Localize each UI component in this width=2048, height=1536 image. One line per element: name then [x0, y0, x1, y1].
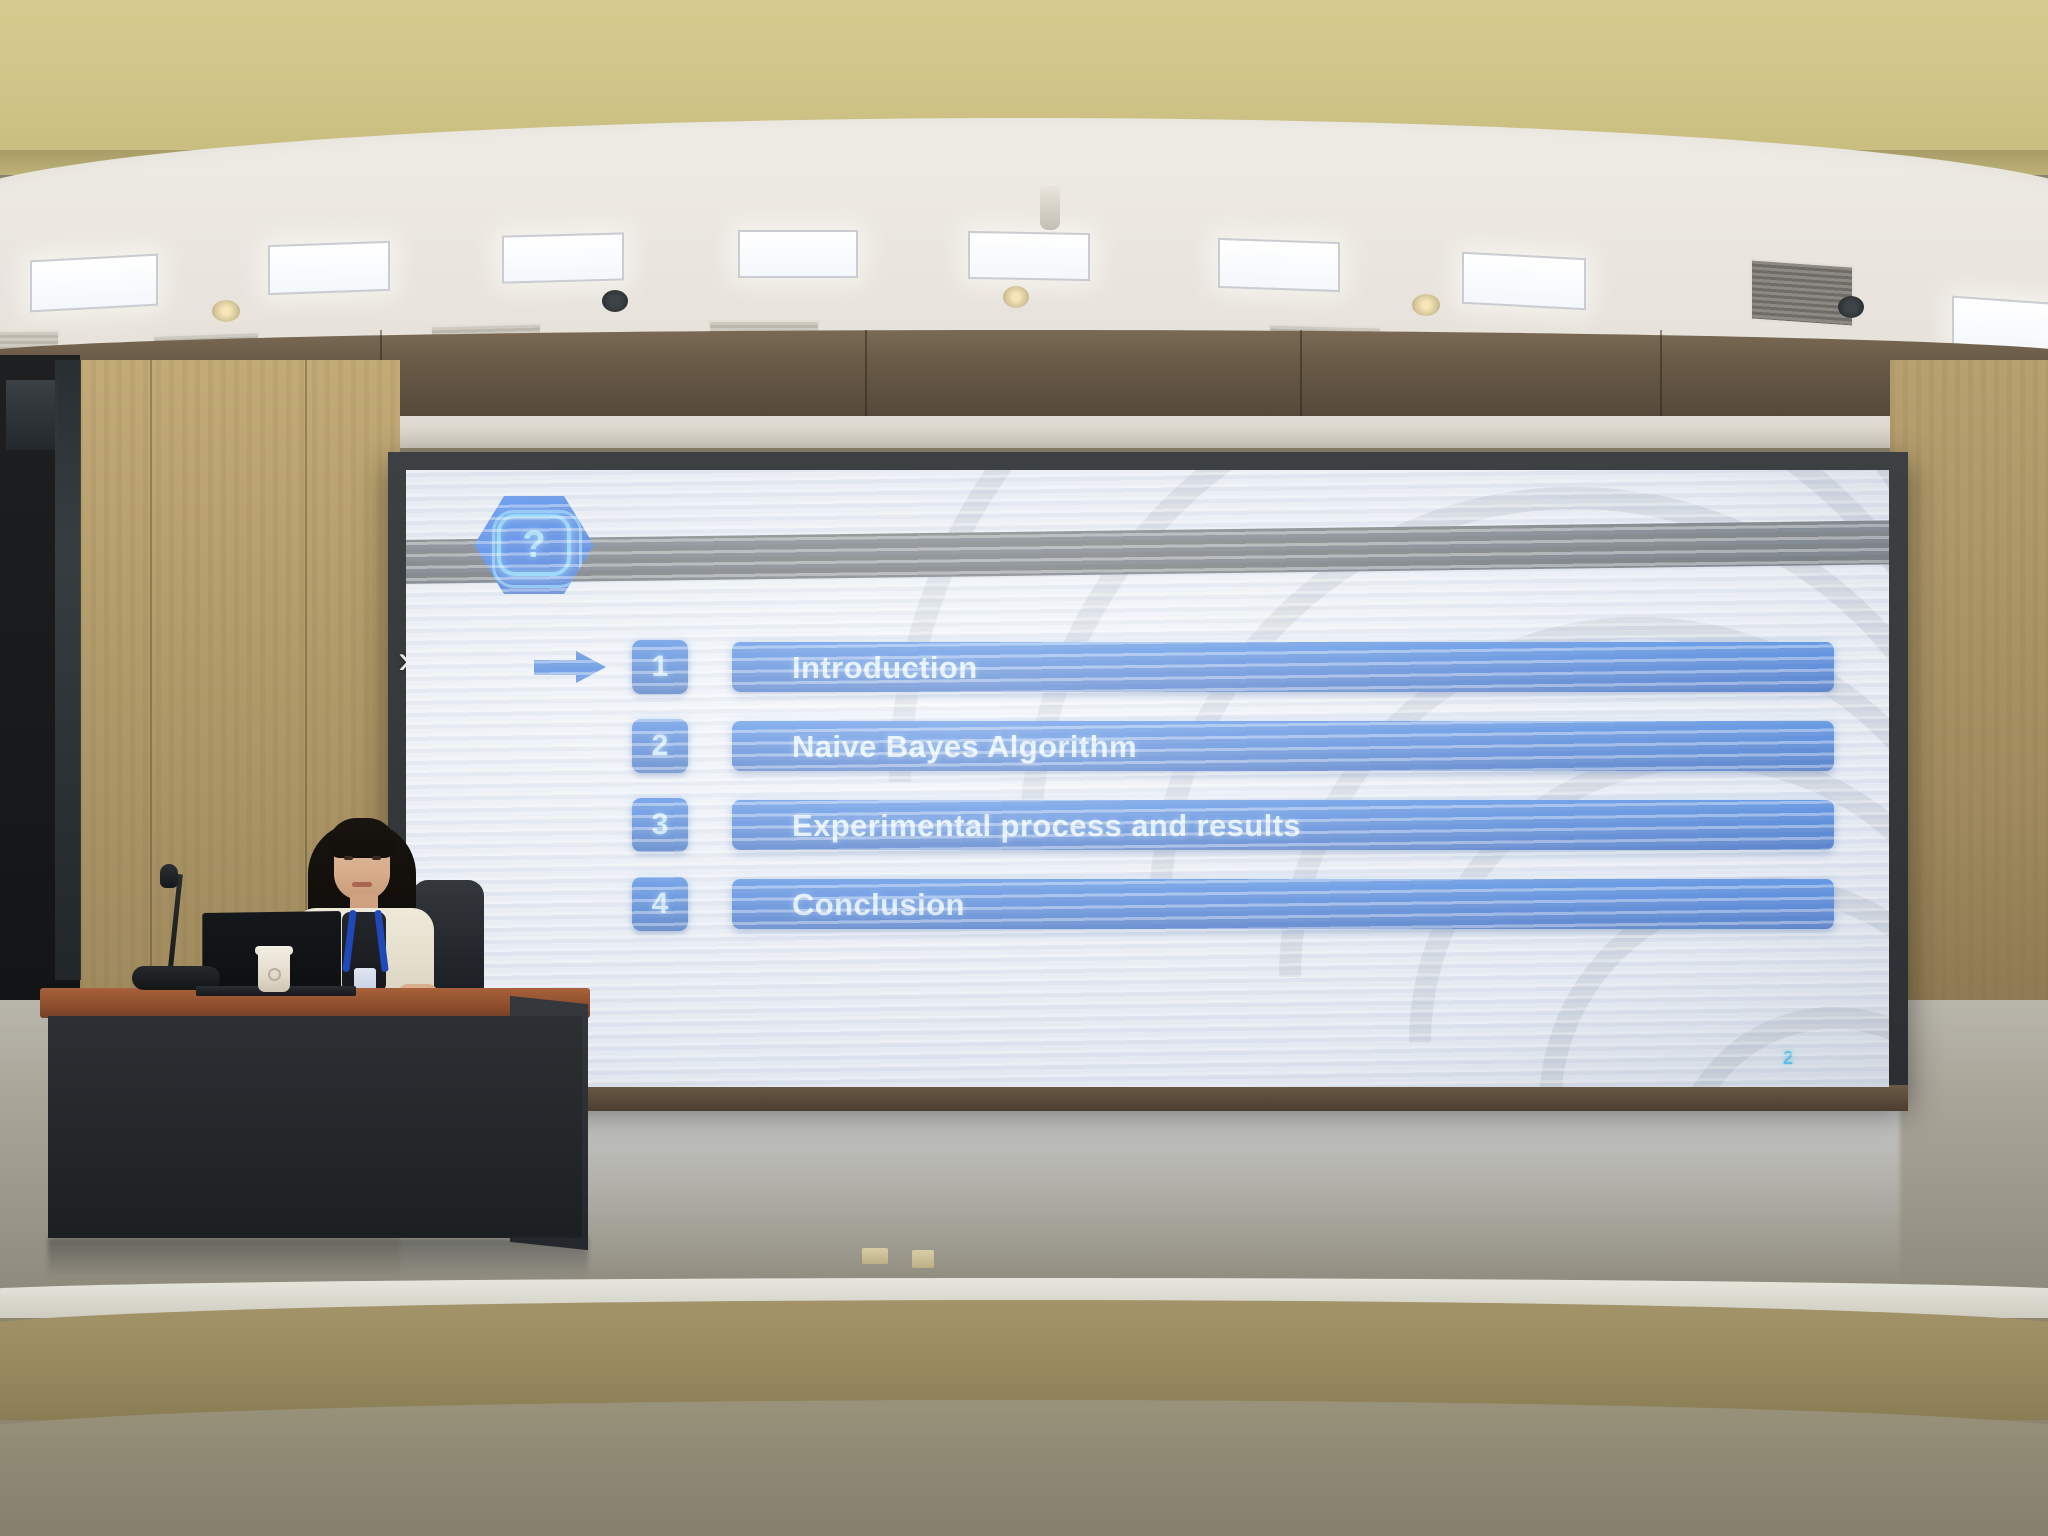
- agenda-number-label: 2: [652, 731, 669, 761]
- question-mark-hexagon-icon: ?: [474, 496, 594, 594]
- agenda-item-label: Experimental process and results: [792, 810, 1301, 841]
- presenter-leg: [348, 1150, 374, 1200]
- presentation-slide[interactable]: ? 1 Introduction 2: [406, 470, 1889, 1087]
- presenter-shoe: [276, 1194, 322, 1212]
- agenda-item-label: Conclusion: [792, 889, 965, 920]
- ceiling-light-panel: [268, 241, 390, 295]
- agenda-item[interactable]: 3 Experimental process and results: [536, 798, 1846, 852]
- ceiling-light-panel: [738, 230, 858, 278]
- stage-riser: [0, 1300, 2048, 1420]
- ceiling-air-vent: [0, 330, 60, 376]
- ceiling-light-panel: [1462, 252, 1586, 310]
- ceiling-light-panel: [502, 232, 624, 283]
- ceiling-downlight-icon: [212, 300, 240, 322]
- ceiling-air-vent: [1750, 258, 1854, 327]
- agenda-item-bar[interactable]: Introduction: [732, 642, 1834, 692]
- upper-wall-band: [0, 0, 2048, 175]
- presenter-hand: [398, 984, 438, 1004]
- ceiling-beam: [0, 330, 2048, 416]
- agenda-number-label: 4: [652, 889, 669, 919]
- presenter-fringe: [328, 818, 396, 858]
- smoke-detector-icon: [1040, 186, 1060, 230]
- screen-floor-reflection: [400, 1088, 1900, 1288]
- podium-floor-reflection: [48, 1238, 588, 1278]
- agenda-number-label: 1: [652, 652, 669, 682]
- ceiling-air-vent: [1552, 335, 1668, 386]
- ceiling-downlight-icon: [1412, 294, 1440, 316]
- presenter-eye: [344, 856, 353, 860]
- agenda-item-bar[interactable]: Naive Bayes Algorithm: [732, 721, 1834, 771]
- floor-object: [862, 1248, 888, 1264]
- ceiling-light-panel: [1218, 238, 1340, 292]
- agenda-item-label: Introduction: [792, 652, 978, 683]
- ceiling-light-panel: [968, 231, 1090, 281]
- agenda-list: 1 Introduction 2 Naive Bayes Algorithm: [536, 640, 1846, 956]
- agenda-item[interactable]: 4 Conclusion: [536, 877, 1846, 931]
- agenda-item-bar[interactable]: Experimental process and results: [732, 800, 1834, 850]
- ceiling-sensor-icon: [602, 290, 628, 312]
- microphone-icon: [166, 874, 183, 986]
- ceiling-air-vent: [152, 331, 260, 381]
- presenter-id-badge: [354, 968, 376, 996]
- agenda-item-label: Naive Bayes Algorithm: [792, 731, 1137, 762]
- microphone-base: [132, 966, 220, 990]
- current-item-arrow-icon: [534, 651, 608, 683]
- ceiling-light-panel: [1952, 296, 2048, 359]
- presenter: [280, 806, 460, 1006]
- corridor-light: [6, 380, 58, 450]
- slide-number-label: 2: [1783, 1048, 1793, 1069]
- ceiling-plane: [0, 118, 2048, 448]
- agenda-item-number: 2: [632, 719, 688, 773]
- agenda-item-number: 1: [632, 640, 688, 694]
- ceiling-air-vent: [708, 320, 820, 364]
- agenda-item-bar[interactable]: Conclusion: [732, 879, 1834, 929]
- ceiling-air-vent: [430, 323, 542, 372]
- presenter-shoe: [340, 1194, 386, 1212]
- question-mark-glyph: ?: [522, 526, 545, 564]
- ceiling-light-panel: [30, 254, 158, 313]
- upper-wall-shadow: [0, 150, 2048, 184]
- conference-room-scene: › ‹ ?: [0, 0, 2048, 1536]
- foreground-floor: [0, 1400, 2048, 1536]
- ceiling-downlight-icon: [1003, 286, 1029, 308]
- agenda-item[interactable]: 1 Introduction: [536, 640, 1846, 694]
- wood-wall-right: [1890, 360, 2048, 1060]
- floor-object: [912, 1250, 934, 1268]
- agenda-item-number: 3: [632, 798, 688, 852]
- agenda-item-number: 4: [632, 877, 688, 931]
- corridor-doorway: [0, 355, 80, 1005]
- presenter-mouth: [352, 882, 372, 887]
- stage-edge-strip: [0, 1278, 2048, 1318]
- ceiling-blue-marker-icon: [1196, 395, 1210, 411]
- ceiling-air-vent: [1862, 353, 1982, 407]
- presenter-eye: [372, 856, 381, 860]
- door-glass-panel: [55, 360, 81, 980]
- agenda-number-label: 3: [652, 810, 669, 840]
- microphone-head: [160, 864, 178, 888]
- presenter-leg: [286, 1150, 312, 1200]
- slide-header-ribbon: [406, 520, 1889, 584]
- ceiling-sensor-icon: [1838, 296, 1864, 318]
- agenda-item[interactable]: 2 Naive Bayes Algorithm: [536, 719, 1846, 773]
- ceiling-air-vent: [1268, 324, 1382, 371]
